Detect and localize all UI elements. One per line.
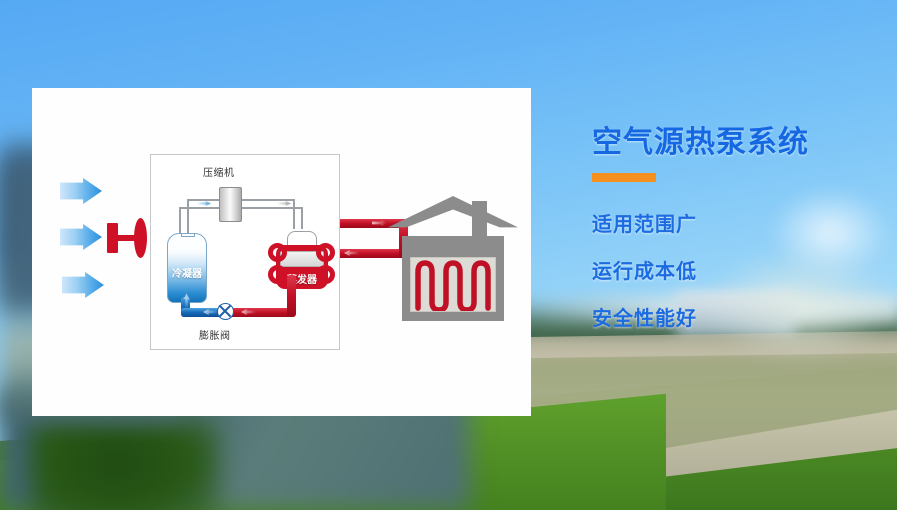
gas-pipe-top-left [187, 199, 220, 201]
slide-stage: 压缩机 膨胀阀 冷凝器 [0, 0, 897, 510]
gas-flow-arrow-icon [277, 201, 291, 206]
feature-item: 运行成本低 [592, 255, 892, 284]
background-bush [30, 420, 220, 510]
floor-heating-coil-icon [412, 258, 496, 311]
compressor-icon [219, 187, 242, 222]
fan-blade [134, 218, 147, 258]
liquid-pipe-bottom-right [229, 308, 295, 317]
evaporator-coil-bend [316, 243, 335, 262]
expansion-valve-icon [217, 303, 234, 320]
air-flow-arrow-icon [60, 224, 102, 250]
gas-pipe-down-right-2 [301, 207, 303, 229]
gas-flow-arrow-icon [197, 201, 211, 206]
gas-pipe-down-left-2 [187, 199, 189, 235]
refrigeration-cycle-schematic: 压缩机 膨胀阀 冷凝器 [150, 154, 340, 350]
condenser-neck [181, 233, 195, 237]
feature-item: 适用范围广 [592, 208, 892, 237]
liquid-pipe-evap-up [287, 275, 296, 317]
text-column: 空气源热泵系统 适用范围广 运行成本低 安全性能好 [592, 126, 892, 349]
gas-pipe-down-right [293, 199, 295, 229]
air-intake-group [60, 176, 160, 306]
feature-list: 适用范围广 运行成本低 安全性能好 [592, 208, 892, 331]
expansion-valve-label: 膨胀阀 [199, 327, 231, 342]
air-flow-arrow-icon [62, 272, 104, 298]
evaporator-icon: 蒸发器 [273, 227, 335, 309]
diagram-card: 压缩机 膨胀阀 冷凝器 [32, 88, 531, 416]
air-flow-arrow-icon [60, 178, 102, 204]
condenser-text: 冷凝器 [167, 265, 207, 280]
compressor-label: 压缩机 [203, 164, 235, 179]
evaporator-coil-bend [268, 243, 287, 262]
gas-pipe-top-right-2 [241, 207, 301, 209]
feature-item: 安全性能好 [592, 302, 892, 331]
fan-icon [107, 218, 151, 258]
page-title: 空气源热泵系统 [592, 126, 892, 159]
evaporator-text: 蒸发器 [276, 271, 328, 286]
gas-pipe-top-left-2 [179, 207, 220, 209]
house-icon [388, 196, 518, 321]
gas-pipe-top-right [241, 199, 293, 201]
accent-bar [592, 173, 656, 182]
gas-pipe-down-left [179, 207, 181, 235]
